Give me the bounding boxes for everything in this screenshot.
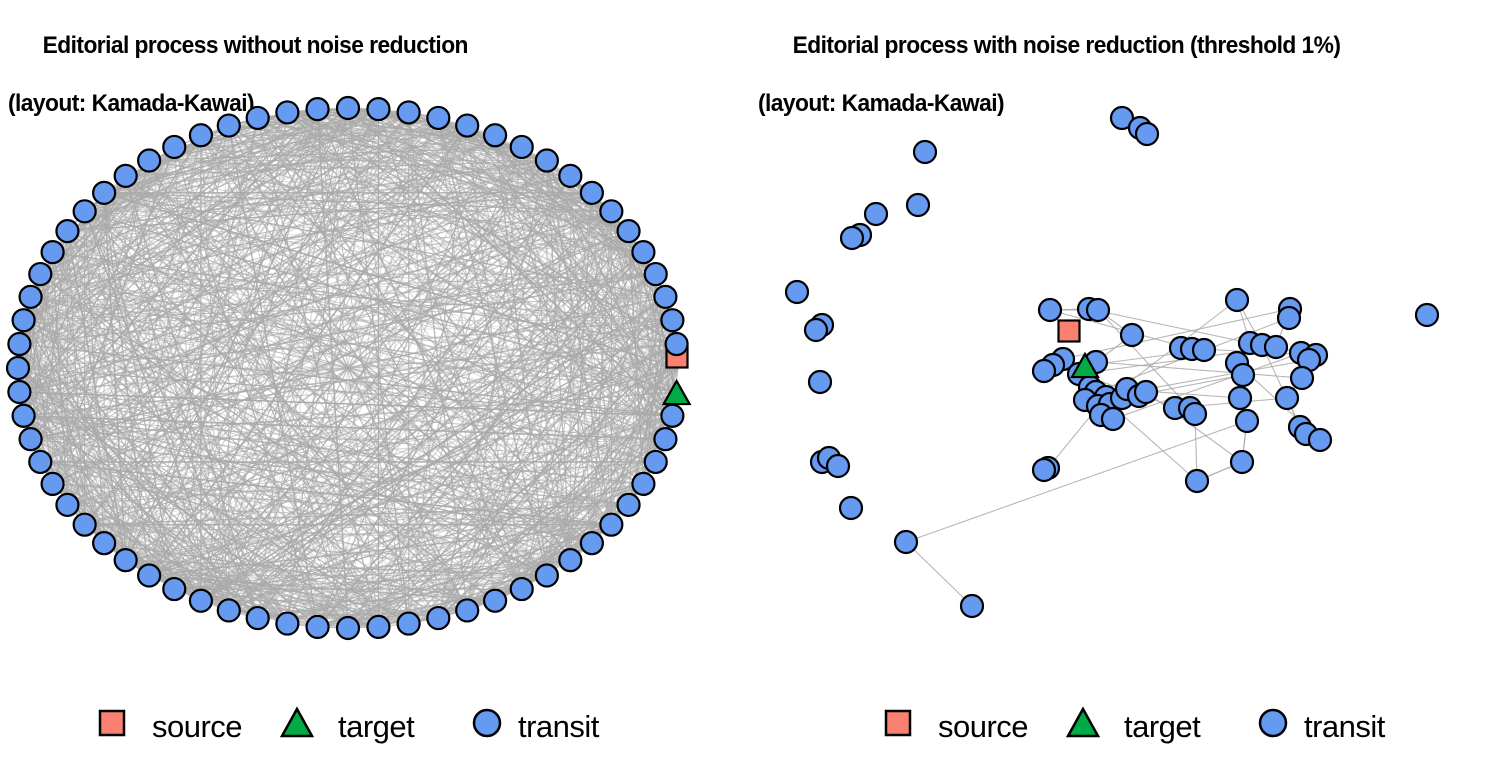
graph-node-transit (42, 473, 64, 495)
legend-target-triangle-icon (1068, 709, 1098, 736)
graph-node-transit (276, 613, 298, 635)
graph-node-transit (632, 473, 654, 495)
graph-node-transit (645, 263, 667, 285)
graph-node-transit (1231, 451, 1253, 473)
graph-node-transit (618, 494, 640, 516)
legend-target-triangle-icon (282, 709, 312, 736)
graph-node-transit (42, 241, 64, 263)
graph-node-transit (666, 333, 688, 355)
network-graph-left (0, 70, 750, 670)
graph-node-transit (840, 497, 862, 519)
graph-node-transit (56, 220, 78, 242)
graph-node-transit (307, 98, 329, 120)
graph-node-transit (581, 532, 603, 554)
legend-transit-circle-icon (474, 710, 500, 736)
graph-node-transit (511, 136, 533, 158)
graph-node-transit (841, 227, 863, 249)
graph-node-transit (138, 564, 160, 586)
legend-left: source target transit (0, 693, 750, 758)
legend-source-square-icon (100, 711, 124, 735)
graph-node-transit (907, 194, 929, 216)
graph-node-transit (427, 607, 449, 629)
graph-node-transit (398, 613, 420, 635)
graph-node-transit (367, 616, 389, 638)
graph-node-transit (895, 531, 917, 553)
graph-node-transit (1265, 336, 1287, 358)
graph-node-transit (1232, 364, 1254, 386)
graph-node-transit (93, 182, 115, 204)
legend-source-label: source (152, 709, 242, 744)
graph-node-transit (1186, 470, 1208, 492)
graph-node-transit (307, 616, 329, 638)
graph-node-transit (484, 590, 506, 612)
panel-without-noise-reduction: Editorial process without noise reductio… (0, 0, 750, 758)
panel-title-right-line1: Editorial process with noise reduction (… (793, 32, 1341, 59)
graph-node-transit (511, 578, 533, 600)
graph-node-transit (1193, 339, 1215, 361)
graph-node-transit (163, 578, 185, 600)
graph-node-transit (484, 124, 506, 146)
graph-node-transit (1276, 387, 1298, 409)
graph-node-transit (247, 607, 269, 629)
graph-node-transit (20, 286, 42, 308)
graph-node-transit (805, 319, 827, 341)
graph-node-transit (74, 514, 96, 536)
graph-node-transit (654, 286, 676, 308)
network-graph-left-svg (0, 70, 750, 670)
legend-right: source target transit (750, 693, 1500, 758)
graph-node-transit (1309, 429, 1331, 451)
graph-node-transit (1039, 299, 1061, 321)
graph-node-transit (581, 182, 603, 204)
legend-target-label: target (1124, 709, 1201, 744)
graph-node-transit (559, 549, 581, 571)
legend-source-label: source (938, 709, 1028, 744)
graph-node-transit (8, 381, 30, 403)
graph-node-transit (163, 136, 185, 158)
graph-node-transit (1416, 304, 1438, 326)
graph-node-transit (1291, 367, 1313, 389)
graph-node-transit (809, 371, 831, 393)
graph-node-transit (247, 107, 269, 129)
graph-node-transit (398, 101, 420, 123)
graph-node-transit (1102, 408, 1124, 430)
graph-node-transit (1236, 410, 1258, 432)
legend-transit-label: transit (1304, 709, 1386, 744)
graph-node-transit (456, 599, 478, 621)
graph-node-transit (961, 595, 983, 617)
graph-node-transit (29, 263, 51, 285)
legend-target-label: target (338, 709, 415, 744)
graph-node-transit (600, 514, 622, 536)
legend-transit-circle-icon (1260, 710, 1286, 736)
graph-node-transit (13, 405, 35, 427)
graph-node-transit (367, 98, 389, 120)
graph-node-transit (7, 357, 29, 379)
graph-node-transit (218, 599, 240, 621)
graph-node-transit (1033, 459, 1055, 481)
graph-node-transit (786, 281, 808, 303)
graph-node-transit (20, 428, 42, 450)
graph-node-transit (645, 451, 667, 473)
panel-title-left-line1: Editorial process without noise reductio… (43, 32, 468, 59)
network-graph-right-svg (750, 70, 1500, 670)
graph-node-transit (190, 590, 212, 612)
graph-node-transit (600, 200, 622, 222)
graph-node-transit (190, 124, 212, 146)
graph-node-transit (1278, 307, 1300, 329)
graph-node-transit (115, 165, 137, 187)
graph-node-transit (115, 549, 137, 571)
graph-node-transit (337, 97, 359, 119)
graph-node-transit (276, 101, 298, 123)
graph-node-transit (427, 107, 449, 129)
graph-node-transit (56, 494, 78, 516)
graph-node-transit (337, 617, 359, 639)
graph-node-transit (29, 451, 51, 473)
graph-node-transit (536, 564, 558, 586)
graph-node-transit (1136, 123, 1158, 145)
graph-node-transit (1184, 403, 1206, 425)
graph-node-transit (1087, 299, 1109, 321)
graph-node-source (1059, 321, 1080, 342)
edge-layer-left (18, 108, 678, 628)
legend-transit-label: transit (518, 709, 600, 744)
graph-node-transit (559, 165, 581, 187)
graph-node-transit (536, 150, 558, 172)
figure-root: Editorial process without noise reductio… (0, 0, 1500, 758)
graph-node-transit (1135, 381, 1157, 403)
graph-node-transit (661, 309, 683, 331)
graph-node-transit (138, 150, 160, 172)
legend-right-svg: source target transit (750, 693, 1500, 758)
graph-node-transit (456, 115, 478, 137)
graph-node-transit (1033, 360, 1055, 382)
graph-node-transit (654, 428, 676, 450)
graph-node-transit (13, 309, 35, 331)
graph-node-transit (865, 203, 887, 225)
panel-with-noise-reduction: Editorial process with noise reduction (… (750, 0, 1500, 758)
legend-left-svg: source target transit (0, 693, 750, 758)
graph-node-transit (93, 532, 115, 554)
graph-node-transit (218, 115, 240, 137)
graph-node-transit (632, 241, 654, 263)
graph-edge (906, 542, 972, 606)
network-graph-right (750, 70, 1500, 670)
graph-node-transit (1121, 324, 1143, 346)
graph-node-transit (1226, 289, 1248, 311)
graph-node-transit (1229, 387, 1251, 409)
graph-node-transit (618, 220, 640, 242)
graph-node-transit (914, 141, 936, 163)
graph-node-transit (8, 333, 30, 355)
legend-source-square-icon (886, 711, 910, 735)
graph-node-transit (661, 405, 683, 427)
graph-node-transit (74, 200, 96, 222)
graph-node-transit (827, 455, 849, 477)
